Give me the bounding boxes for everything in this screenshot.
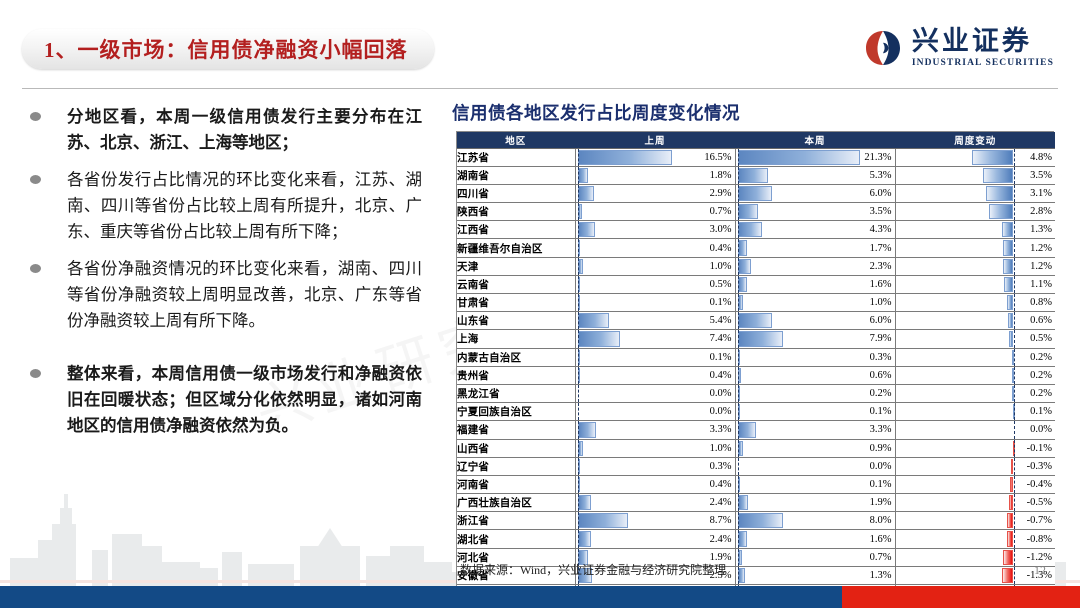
bullet-item: 各省份净融资情况的环比变化来看，湖南、四川等省份净融资较上周明显改善，北京、广东… <box>22 256 422 334</box>
bar-baseline <box>1014 530 1015 547</box>
table-row: 江西省3.0%4.3%1.3% <box>457 221 1055 239</box>
header-divider <box>22 88 1058 89</box>
bar-baseline <box>578 294 579 311</box>
table-cell-change: 4.8% <box>895 148 1055 166</box>
data-bar <box>578 495 592 510</box>
bar-baseline <box>738 185 739 202</box>
table-row: 陕西省0.7%3.5%2.8% <box>457 203 1055 221</box>
bar-baseline <box>578 440 579 457</box>
data-bar <box>738 186 772 201</box>
cell-number: 0.4% <box>710 239 732 256</box>
bar-baseline <box>1014 385 1015 402</box>
table-title: 信用债各地区发行占比周度变化情况 <box>452 100 740 125</box>
slide-title-pill: 1、一级市场：信用债净融资小幅回落 <box>22 29 434 69</box>
table-cell-change: -0.8% <box>895 530 1055 548</box>
table-row: 黑龙江省0.0%0.2%0.2% <box>457 384 1055 402</box>
table-cell-region: 黑龙江省 <box>457 384 575 402</box>
bar-baseline <box>1014 549 1015 566</box>
cell-number: 3.5% <box>870 203 892 220</box>
data-bar <box>1003 259 1013 274</box>
cell-number: -0.5% <box>1027 494 1052 511</box>
bar-baseline <box>1014 494 1015 511</box>
bar-baseline <box>1014 221 1015 238</box>
table-cell-value: 0.0% <box>575 384 735 402</box>
table-cell-value: 16.5% <box>575 148 735 166</box>
bar-baseline <box>578 276 579 293</box>
table-cell-change: 1.1% <box>895 275 1055 293</box>
cell-number: 5.3% <box>870 167 892 184</box>
cell-number: 1.1% <box>1030 276 1052 293</box>
bar-baseline <box>738 458 739 475</box>
table-cell-region: 内蒙古自治区 <box>457 348 575 366</box>
cell-number: 0.1% <box>1030 403 1052 420</box>
cell-number: 1.2% <box>1030 258 1052 275</box>
table-cell-value: 6.0% <box>735 184 895 202</box>
table-row: 内蒙古自治区0.1%0.3%0.2% <box>457 348 1055 366</box>
table-cell-change: 0.2% <box>895 366 1055 384</box>
bar-baseline <box>738 312 739 329</box>
cell-number: 6.0% <box>870 185 892 202</box>
table-row: 天津1.0%2.3%1.2% <box>457 257 1055 275</box>
cell-number: 0.8% <box>1030 294 1052 311</box>
bar-baseline <box>1014 239 1015 256</box>
cell-number: 0.3% <box>710 458 732 475</box>
cell-number: 0.5% <box>710 276 732 293</box>
bar-baseline <box>1014 512 1015 529</box>
slide-root: 1、一级市场：信用债净融资小幅回落 兴业证券 INDUSTRIAL SECURI… <box>0 0 1080 608</box>
data-bar <box>578 513 628 528</box>
cell-number: 2.4% <box>710 530 732 547</box>
table-cell-change: 3.5% <box>895 166 1055 184</box>
table-row: 四川省2.9%6.0%3.1% <box>457 184 1055 202</box>
table-row: 湖南省1.8%5.3%3.5% <box>457 166 1055 184</box>
region-share-table: 地区 上周 本周 周度变动 江苏省16.5%21.3%4.8%湖南省1.8%5.… <box>456 131 1054 608</box>
table-cell-value: 0.1% <box>735 403 895 421</box>
table-cell-region: 湖南省 <box>457 166 575 184</box>
table-cell-value: 3.5% <box>735 203 895 221</box>
table-cell-region: 山东省 <box>457 312 575 330</box>
data-bar <box>983 168 1014 183</box>
cell-number: 0.3% <box>870 349 892 366</box>
bullet-text: 分地区看，本周一级信用债发行主要分布在江苏、北京、浙江、上海等地区； <box>67 104 422 156</box>
cell-number: 0.2% <box>1030 385 1052 402</box>
table-cell-value: 0.9% <box>735 439 895 457</box>
cell-number: 1.2% <box>1030 239 1052 256</box>
bar-baseline <box>738 421 739 438</box>
data-bar <box>738 313 772 328</box>
col-header-last-week: 上周 <box>575 132 735 148</box>
bar-baseline <box>1014 276 1015 293</box>
cell-number: 7.4% <box>710 330 732 347</box>
data-bar <box>738 495 749 510</box>
table-row: 上海7.4%7.9%0.5% <box>457 330 1055 348</box>
bar-baseline <box>738 276 739 293</box>
bar-baseline <box>578 349 579 366</box>
bar-baseline <box>578 512 579 529</box>
table-row: 山东省5.4%6.0%0.6% <box>457 312 1055 330</box>
cell-number: 4.3% <box>870 221 892 238</box>
bar-baseline <box>1014 149 1015 166</box>
table-cell-region: 新疆维吾尔自治区 <box>457 239 575 257</box>
table-cell-change: -0.5% <box>895 494 1055 512</box>
industrial-securities-logo-icon <box>863 28 903 68</box>
table-cell-value: 0.0% <box>735 457 895 475</box>
data-bar <box>989 204 1013 219</box>
bullet-item: 整体来看，本周信用债一级市场发行和净融资依旧在回暖状态；但区域分化依然明显，诸如… <box>22 361 422 439</box>
bar-baseline <box>738 367 739 384</box>
table-cell-value: 2.4% <box>575 530 735 548</box>
table-cell-value: 0.6% <box>735 366 895 384</box>
cell-number: 2.8% <box>1030 203 1052 220</box>
table-cell-value: 4.3% <box>735 221 895 239</box>
table-cell-value: 1.7% <box>735 239 895 257</box>
data-bar <box>578 222 595 237</box>
bar-baseline <box>738 567 739 584</box>
bar-baseline <box>738 385 739 402</box>
table-cell-value: 2.4% <box>575 494 735 512</box>
bar-baseline <box>1014 203 1015 220</box>
bar-baseline <box>578 149 579 166</box>
data-bar <box>1003 550 1013 565</box>
data-bar <box>738 222 763 237</box>
table-cell-value: 1.0% <box>575 439 735 457</box>
table-cell-value: 0.7% <box>735 548 895 566</box>
table-cell-value: 1.3% <box>735 566 895 584</box>
page-title: 1、一级市场：信用债净融资小幅回落 <box>44 34 408 64</box>
data-bar <box>578 422 597 437</box>
cell-number: 1.0% <box>710 258 732 275</box>
bar-baseline <box>738 530 739 547</box>
bar-baseline <box>738 494 739 511</box>
table-cell-region: 河南省 <box>457 475 575 493</box>
cell-number: 0.1% <box>870 403 892 420</box>
cell-number: 0.1% <box>870 476 892 493</box>
data-bar <box>578 531 592 546</box>
footer-bar-red <box>842 586 1080 608</box>
bar-baseline <box>578 458 579 475</box>
table-cell-value: 0.0% <box>575 403 735 421</box>
data-bar <box>1004 277 1014 292</box>
cell-number: 0.6% <box>870 367 892 384</box>
cell-number: -0.7% <box>1027 512 1052 529</box>
data-bar <box>578 168 588 183</box>
bar-baseline <box>1014 440 1015 457</box>
bar-baseline <box>738 403 739 420</box>
bar-baseline <box>738 203 739 220</box>
data-bar <box>578 186 595 201</box>
cell-number: 1.9% <box>870 494 892 511</box>
cell-number: 0.2% <box>1030 349 1052 366</box>
bar-baseline <box>1014 185 1015 202</box>
cell-number: 21.3% <box>864 149 891 166</box>
table-cell-region: 陕西省 <box>457 203 575 221</box>
bar-baseline <box>738 167 739 184</box>
data-bar <box>986 186 1013 201</box>
cell-number: 1.6% <box>870 530 892 547</box>
bar-baseline <box>578 530 579 547</box>
bar-baseline <box>578 239 579 256</box>
data-bar <box>738 422 757 437</box>
table-cell-change: 1.3% <box>895 221 1055 239</box>
table-cell-region: 上海 <box>457 330 575 348</box>
table-row: 福建省3.3%3.3%0.0% <box>457 421 1055 439</box>
table-cell-region: 贵州省 <box>457 366 575 384</box>
bullet-dot-icon <box>30 264 41 273</box>
cell-number: 0.0% <box>1030 421 1052 438</box>
data-bar <box>738 568 745 583</box>
table-cell-region: 辽宁省 <box>457 457 575 475</box>
source-note: 数据来源：Wind，兴业证券金融与经济研究院整理 <box>460 561 726 578</box>
data-bar <box>738 168 768 183</box>
table-cell-change: 0.2% <box>895 384 1055 402</box>
table-cell-value: 0.4% <box>575 366 735 384</box>
table-cell-value: 7.4% <box>575 330 735 348</box>
table-cell-region: 山西省 <box>457 439 575 457</box>
data-bar <box>578 150 673 165</box>
data-bar <box>578 331 621 346</box>
table-cell-region: 江苏省 <box>457 148 575 166</box>
cell-number: 6.0% <box>870 312 892 329</box>
bar-baseline <box>738 476 739 493</box>
table-cell-value: 2.9% <box>575 184 735 202</box>
cell-number: 1.3% <box>1030 221 1052 238</box>
table-cell-value: 0.2% <box>735 384 895 402</box>
data-bar <box>738 331 783 346</box>
bullet-dot-icon <box>30 175 41 184</box>
cell-number: 8.7% <box>710 512 732 529</box>
cell-number: 0.7% <box>870 549 892 566</box>
bar-baseline <box>1014 312 1015 329</box>
bar-baseline <box>738 512 739 529</box>
table-cell-value: 0.3% <box>735 348 895 366</box>
table-cell-region: 天津 <box>457 257 575 275</box>
table-cell-value: 7.9% <box>735 330 895 348</box>
bar-baseline <box>1014 476 1015 493</box>
bar-baseline <box>1014 367 1015 384</box>
table-cell-value: 1.9% <box>735 494 895 512</box>
data-bar <box>738 277 747 292</box>
table-cell-change: 1.2% <box>895 257 1055 275</box>
data-bar <box>1003 240 1013 255</box>
table-cell-value: 0.1% <box>735 475 895 493</box>
bar-baseline <box>578 258 579 275</box>
table-cell-change: 1.2% <box>895 239 1055 257</box>
table-row: 贵州省0.4%0.6%0.2% <box>457 366 1055 384</box>
cell-number: 0.6% <box>1030 312 1052 329</box>
table-cell-change: 0.6% <box>895 312 1055 330</box>
data-bar <box>738 531 747 546</box>
bar-baseline <box>738 221 739 238</box>
brand-logo: 兴业证券 INDUSTRIAL SECURITIES <box>863 28 1054 69</box>
table-cell-value: 1.0% <box>735 294 895 312</box>
bar-baseline <box>1014 258 1015 275</box>
bar-baseline <box>738 349 739 366</box>
table-cell-region: 甘肃省 <box>457 294 575 312</box>
logo-text-cn: 兴业证券 <box>912 28 1054 55</box>
table-cell-change: -1.2% <box>895 548 1055 566</box>
cell-number: 3.5% <box>1030 167 1052 184</box>
bar-baseline <box>578 367 579 384</box>
cell-number: 0.0% <box>710 385 732 402</box>
bar-baseline <box>1014 458 1015 475</box>
footer-color-bar <box>0 586 1080 608</box>
cell-number: 8.0% <box>870 512 892 529</box>
table-body: 江苏省16.5%21.3%4.8%湖南省1.8%5.3%3.5%四川省2.9%6… <box>457 148 1055 608</box>
table-cell-value: 5.4% <box>575 312 735 330</box>
cell-number: 1.0% <box>870 294 892 311</box>
table-cell-change: 3.1% <box>895 184 1055 202</box>
bar-baseline <box>738 294 739 311</box>
bar-baseline <box>578 385 579 402</box>
table-cell-region: 湖北省 <box>457 530 575 548</box>
bar-baseline <box>738 549 739 566</box>
bar-baseline <box>738 330 739 347</box>
table-cell-value: 0.1% <box>575 348 735 366</box>
table-row: 云南省0.5%1.6%1.1% <box>457 275 1055 293</box>
table-row: 江苏省16.5%21.3%4.8% <box>457 148 1055 166</box>
data-bar <box>738 204 758 219</box>
cell-number: -0.4% <box>1027 476 1052 493</box>
bar-baseline <box>1014 294 1015 311</box>
table-cell-change: -0.1% <box>895 439 1055 457</box>
table-cell-value: 0.1% <box>575 294 735 312</box>
cell-number: 0.5% <box>1030 330 1052 347</box>
table-cell-region: 四川省 <box>457 184 575 202</box>
bar-baseline <box>738 239 739 256</box>
table-cell-change: 0.5% <box>895 330 1055 348</box>
footer-bar-blue <box>0 586 842 608</box>
bar-baseline <box>738 149 739 166</box>
cell-number: 16.5% <box>704 149 731 166</box>
bar-baseline <box>578 203 579 220</box>
data-bar <box>578 313 609 328</box>
table-cell-value: 0.7% <box>575 203 735 221</box>
data-bar <box>738 513 784 528</box>
bar-baseline <box>1014 421 1015 438</box>
col-header-weekly-change: 周度变动 <box>895 132 1055 148</box>
cell-number: 7.9% <box>870 330 892 347</box>
table-cell-value: 21.3% <box>735 148 895 166</box>
bar-baseline <box>738 440 739 457</box>
table-cell-value: 0.4% <box>575 475 735 493</box>
table-cell-value: 0.3% <box>575 457 735 475</box>
cell-number: 1.6% <box>870 276 892 293</box>
table-cell-change: 2.8% <box>895 203 1055 221</box>
table-header-row: 地区 上周 本周 周度变动 <box>457 132 1055 148</box>
table-cell-region: 宁夏回族自治区 <box>457 403 575 421</box>
bar-baseline <box>1014 567 1015 584</box>
bar-baseline <box>738 258 739 275</box>
logo-text-en: INDUSTRIAL SECURITIES <box>912 59 1054 69</box>
bullet-text: 各省份净融资情况的环比变化来看，湖南、四川等省份净融资较上周明显改善，北京、广东… <box>67 256 422 334</box>
cell-number: 0.7% <box>710 203 732 220</box>
bar-baseline <box>578 167 579 184</box>
table-cell-region: 浙江省 <box>457 512 575 530</box>
data-bar <box>738 259 751 274</box>
table-cell-value: 1.6% <box>735 530 895 548</box>
cell-number: 3.1% <box>1030 185 1052 202</box>
table-row: 山西省1.0%0.9%-0.1% <box>457 439 1055 457</box>
table-cell-value: 3.3% <box>735 421 895 439</box>
bar-baseline <box>578 403 579 420</box>
bar-baseline <box>1014 330 1015 347</box>
cell-number: 1.3% <box>870 567 892 584</box>
table-cell-region: 云南省 <box>457 275 575 293</box>
bar-baseline <box>1014 403 1015 420</box>
table-row: 浙江省8.7%8.0%-0.7% <box>457 512 1055 530</box>
cell-number: 0.0% <box>710 403 732 420</box>
bullet-dot-icon <box>30 112 41 121</box>
bullet-text: 各省份发行占比情况的环比变化来看，江苏、湖南、四川等省份占比较上周有所提升，北京… <box>67 167 422 245</box>
table-row: 甘肃省0.1%1.0%0.8% <box>457 294 1055 312</box>
bar-baseline <box>578 312 579 329</box>
table-row: 辽宁省0.3%0.0%-0.3% <box>457 457 1055 475</box>
cell-number: 1.0% <box>710 440 732 457</box>
bar-baseline <box>578 421 579 438</box>
data-bar <box>1007 295 1014 310</box>
data-bar <box>738 150 860 165</box>
table-row: 广西壮族自治区2.4%1.9%-0.5% <box>457 494 1055 512</box>
table-cell-change: -0.3% <box>895 457 1055 475</box>
cell-number: 4.8% <box>1030 149 1052 166</box>
cell-number: 3.0% <box>710 221 732 238</box>
bar-baseline <box>578 185 579 202</box>
bullet-item: 分地区看，本周一级信用债发行主要分布在江苏、北京、浙江、上海等地区； <box>22 104 422 156</box>
cell-number: -0.1% <box>1027 440 1052 457</box>
bar-baseline <box>578 476 579 493</box>
data-bar <box>972 150 1014 165</box>
bullet-text: 整体来看，本周信用债一级市场发行和净融资依旧在回暖状态；但区域分化依然明显，诸如… <box>67 361 422 439</box>
cell-number: 0.1% <box>710 349 732 366</box>
table-cell-change: -0.7% <box>895 512 1055 530</box>
cell-number: 0.4% <box>710 367 732 384</box>
bar-baseline <box>578 221 579 238</box>
table-cell-value: 8.0% <box>735 512 895 530</box>
cell-number: 0.1% <box>710 294 732 311</box>
cell-number: 2.3% <box>870 258 892 275</box>
page-number: 12 <box>1034 563 1046 578</box>
cell-number: 5.4% <box>710 312 732 329</box>
cell-number: 3.3% <box>710 421 732 438</box>
cell-number: 2.4% <box>710 494 732 511</box>
bullet-item: 各省份发行占比情况的环比变化来看，江苏、湖南、四川等省份占比较上周有所提升，北京… <box>22 167 422 245</box>
table-row: 湖北省2.4%1.6%-0.8% <box>457 530 1055 548</box>
cell-number: 3.3% <box>870 421 892 438</box>
table-cell-value: 1.0% <box>575 257 735 275</box>
data-bar <box>1002 568 1013 583</box>
data-bar <box>1007 531 1014 546</box>
table-cell-change: 0.1% <box>895 403 1055 421</box>
cell-number: 0.0% <box>870 458 892 475</box>
bar-baseline <box>578 494 579 511</box>
table-cell-region: 江西省 <box>457 221 575 239</box>
data-bar <box>738 240 748 255</box>
bullet-list: 分地区看，本周一级信用债发行主要分布在江苏、北京、浙江、上海等地区；各省份发行占… <box>22 104 422 450</box>
cell-number: 1.7% <box>870 239 892 256</box>
col-header-region: 地区 <box>457 132 575 148</box>
cell-number: -0.8% <box>1027 530 1052 547</box>
table-cell-value: 1.6% <box>735 275 895 293</box>
col-header-this-week: 本周 <box>735 132 895 148</box>
table-cell-change: -1.3% <box>895 566 1055 584</box>
table-cell-value: 5.3% <box>735 166 895 184</box>
table-cell-change: 0.2% <box>895 348 1055 366</box>
table-row: 宁夏回族自治区0.0%0.1%0.1% <box>457 403 1055 421</box>
table-cell-change: 0.8% <box>895 294 1055 312</box>
table-cell-value: 2.3% <box>735 257 895 275</box>
cell-number: 0.9% <box>870 440 892 457</box>
data-bar <box>1002 222 1013 237</box>
